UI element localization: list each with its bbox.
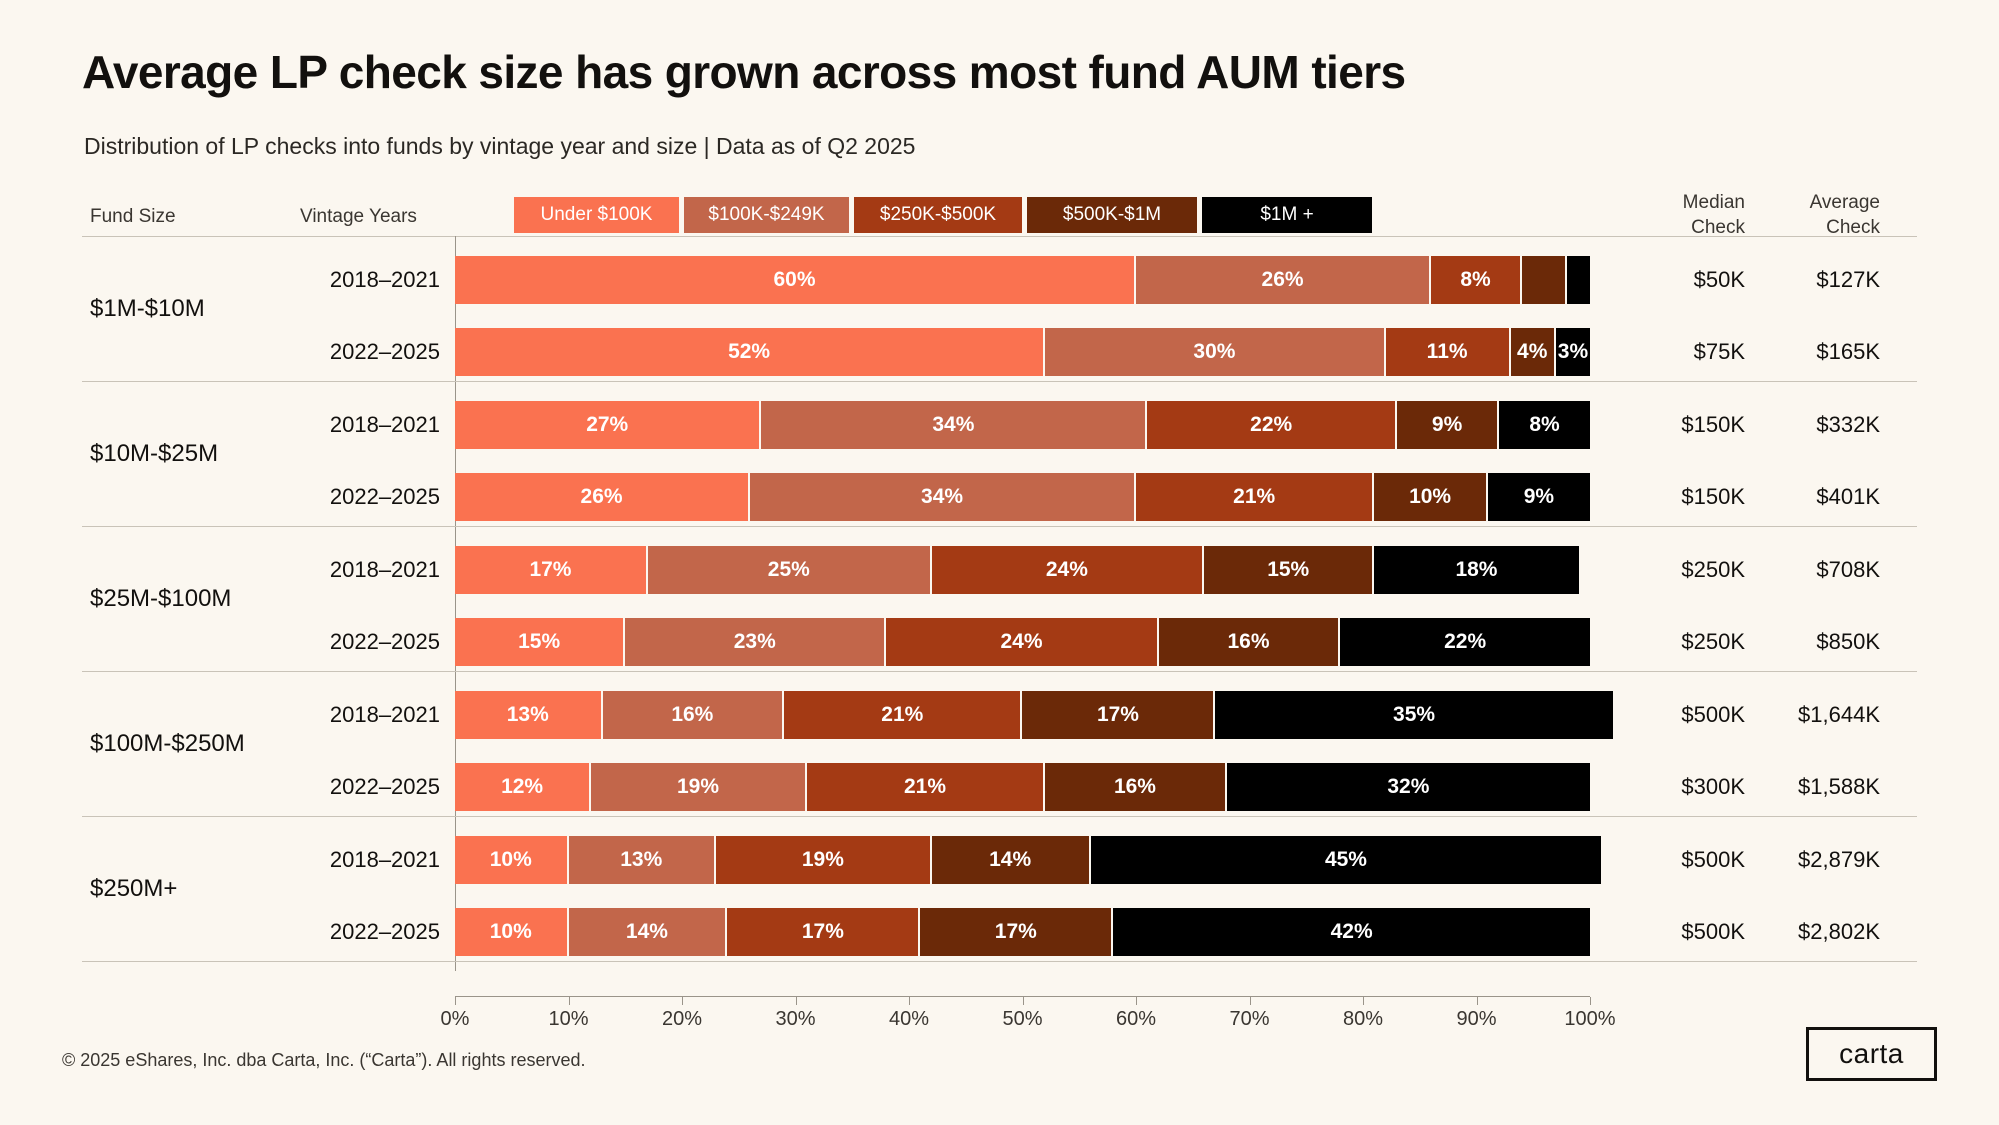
bar-segment[interactable]: 22%: [1147, 401, 1397, 449]
bar-segment-label: 15%: [1267, 558, 1309, 582]
vintage-years-label: 2022–2025: [190, 763, 440, 811]
bar-segment[interactable]: 19%: [591, 763, 807, 811]
median-check-value: $500K: [1625, 836, 1745, 884]
table-row: 2018–202127%34%22%9%8%$150K$332K: [0, 401, 1999, 449]
bar-segment[interactable]: [1522, 256, 1567, 304]
bar-segment-label: 34%: [932, 413, 974, 437]
legend-item-3[interactable]: $250K-$500K: [854, 197, 1022, 233]
column-header-vintage-years: Vintage Years: [300, 206, 417, 228]
chart-page: Average LP check size has grown across m…: [0, 0, 1999, 1125]
bar-segment[interactable]: 17%: [455, 546, 648, 594]
median-check-value: $250K: [1625, 546, 1745, 594]
bar-segment-label: 4%: [1517, 340, 1547, 364]
bar-segment[interactable]: 19%: [716, 836, 932, 884]
group-divider: [82, 816, 1917, 817]
bar-segment[interactable]: 24%: [886, 618, 1158, 666]
stacked-bar[interactable]: 60%26%8%: [455, 256, 1590, 304]
vintage-years-label: 2022–2025: [190, 473, 440, 521]
chart-legend: Under $100K$100K-$249K$250K-$500K$500K-$…: [514, 197, 1372, 233]
bar-segment[interactable]: 34%: [761, 401, 1147, 449]
table-row: 2018–202110%13%19%14%45%$500K$2,879K: [0, 836, 1999, 884]
bar-segment[interactable]: 34%: [750, 473, 1136, 521]
x-axis-tick-label: 10%: [548, 1008, 588, 1031]
bar-segment[interactable]: 17%: [727, 908, 920, 956]
bar-segment-label: 24%: [1000, 630, 1042, 654]
bar-segment-label: 17%: [995, 920, 1037, 944]
median-check-value: $250K: [1625, 618, 1745, 666]
bar-segment[interactable]: 24%: [932, 546, 1204, 594]
stacked-bar[interactable]: 15%23%24%16%22%: [455, 618, 1590, 666]
bar-segment[interactable]: 11%: [1386, 328, 1511, 376]
table-row: 2018–202160%26%8%$50K$127K: [0, 256, 1999, 304]
bar-segment[interactable]: 16%: [1045, 763, 1227, 811]
stacked-bar[interactable]: 10%14%17%17%42%: [455, 908, 1590, 956]
bar-segment-label: 21%: [904, 775, 946, 799]
average-check-value: $332K: [1760, 401, 1880, 449]
bar-segment[interactable]: 15%: [1204, 546, 1374, 594]
bar-segment-label: 35%: [1393, 703, 1435, 727]
bar-segment[interactable]: 25%: [648, 546, 932, 594]
bar-segment-label: 22%: [1250, 413, 1292, 437]
bar-segment-label: 32%: [1387, 775, 1429, 799]
x-axis-tick-label: 30%: [775, 1008, 815, 1031]
average-check-value: $165K: [1760, 328, 1880, 376]
vintage-years-label: 2018–2021: [190, 256, 440, 304]
bar-segment[interactable]: 27%: [455, 401, 761, 449]
x-axis-tick: [569, 997, 570, 1005]
average-check-value: $708K: [1760, 546, 1880, 594]
legend-item-1[interactable]: Under $100K: [514, 197, 679, 233]
bar-segment-label: 12%: [501, 775, 543, 799]
x-axis-tick: [1363, 997, 1364, 1005]
column-header-average-check: Average Check: [1760, 190, 1880, 240]
legend-item-label: $1M +: [1260, 204, 1313, 226]
page-subtitle: Distribution of LP checks into funds by …: [84, 133, 915, 160]
x-axis-tick: [1250, 997, 1251, 1005]
average-check-value: $2,802K: [1760, 908, 1880, 956]
table-row: 2018–202117%25%24%15%18%$250K$708K: [0, 546, 1999, 594]
stacked-bar[interactable]: 13%16%21%17%35%: [455, 691, 1613, 739]
x-axis-tick: [455, 997, 456, 1005]
bar-segment[interactable]: 35%: [1215, 691, 1612, 739]
table-row: 2022–202515%23%24%16%22%$250K$850K: [0, 618, 1999, 666]
vintage-years-label: 2022–2025: [190, 908, 440, 956]
bar-segment-label: 14%: [989, 848, 1031, 872]
average-check-line-1: Average: [1760, 190, 1880, 215]
bar-segment[interactable]: 9%: [1397, 401, 1499, 449]
x-axis-tick-label: 80%: [1343, 1008, 1383, 1031]
x-axis-tick: [1477, 997, 1478, 1005]
bar-segment-label: 26%: [581, 485, 623, 509]
vintage-years-label: 2018–2021: [190, 836, 440, 884]
bar-segment[interactable]: 21%: [807, 763, 1045, 811]
bar-segment[interactable]: 21%: [1136, 473, 1374, 521]
bar-segment[interactable]: 18%: [1374, 546, 1578, 594]
bar-segment-label: 19%: [802, 848, 844, 872]
x-axis-tick-label: 90%: [1456, 1008, 1496, 1031]
bar-segment-label: 24%: [1046, 558, 1088, 582]
stacked-bar[interactable]: 26%34%21%10%9%: [455, 473, 1590, 521]
bar-segment[interactable]: 23%: [625, 618, 886, 666]
bar-segment[interactable]: 22%: [1340, 618, 1590, 666]
x-axis-tick: [796, 997, 797, 1005]
bar-segment[interactable]: 12%: [455, 763, 591, 811]
table-row: 2022–202552%30%11%4%3%$75K$165K: [0, 328, 1999, 376]
vintage-years-label: 2018–2021: [190, 691, 440, 739]
vintage-years-label: 2022–2025: [190, 618, 440, 666]
bar-segment[interactable]: [1567, 256, 1590, 304]
average-check-value: $2,879K: [1760, 836, 1880, 884]
bar-segment-label: 17%: [1097, 703, 1139, 727]
bar-segment-label: 19%: [677, 775, 719, 799]
bar-segment[interactable]: 32%: [1227, 763, 1590, 811]
median-check-line-1: Median: [1625, 190, 1745, 215]
legend-item-label: $500K-$1M: [1063, 204, 1161, 226]
stacked-bar[interactable]: 12%19%21%16%32%: [455, 763, 1590, 811]
bar-segment-label: 10%: [490, 848, 532, 872]
vintage-years-label: 2018–2021: [190, 401, 440, 449]
bar-segment-label: 60%: [773, 268, 815, 292]
bar-segment[interactable]: 30%: [1045, 328, 1386, 376]
bar-segment-label: 10%: [490, 920, 532, 944]
median-check-value: $300K: [1625, 763, 1745, 811]
legend-item-label: $100K-$249K: [708, 204, 824, 226]
x-axis-tick: [1136, 997, 1137, 1005]
bar-segment-label: 34%: [921, 485, 963, 509]
x-axis-tick: [682, 997, 683, 1005]
average-check-value: $1,588K: [1760, 763, 1880, 811]
bar-segment[interactable]: 8%: [1431, 256, 1522, 304]
median-check-value: $500K: [1625, 908, 1745, 956]
bar-segment[interactable]: 16%: [1159, 618, 1341, 666]
bar-segment-label: 3%: [1558, 340, 1588, 364]
average-check-value: $1,644K: [1760, 691, 1880, 739]
x-axis-tick: [1023, 997, 1024, 1005]
x-axis-tick-label: 100%: [1564, 1008, 1615, 1031]
legend-item-label: Under $100K: [541, 204, 653, 226]
x-axis-tick: [1590, 997, 1591, 1005]
bar-segment[interactable]: 16%: [603, 691, 785, 739]
bar-segment-label: 27%: [586, 413, 628, 437]
bar-segment-label: 8%: [1529, 413, 1559, 437]
bar-segment[interactable]: 21%: [784, 691, 1022, 739]
bar-segment-label: 15%: [518, 630, 560, 654]
bar-segment[interactable]: 13%: [455, 691, 603, 739]
bar-segment-label: 9%: [1432, 413, 1462, 437]
x-axis-tick: [909, 997, 910, 1005]
stacked-bar[interactable]: 52%30%11%4%3%: [455, 328, 1590, 376]
bar-segment-label: 8%: [1460, 268, 1490, 292]
bar-segment-label: 16%: [1227, 630, 1269, 654]
copyright-text: © 2025 eShares, Inc. dba Carta, Inc. (“C…: [62, 1050, 586, 1071]
stacked-bar[interactable]: 17%25%24%15%18%: [455, 546, 1579, 594]
vintage-years-label: 2022–2025: [190, 328, 440, 376]
group-divider: [82, 961, 1917, 962]
bar-segment[interactable]: 60%: [455, 256, 1136, 304]
bar-segment[interactable]: 13%: [569, 836, 717, 884]
bar-segment-label: 21%: [1233, 485, 1275, 509]
bar-segment-label: 30%: [1193, 340, 1235, 364]
legend-item-5[interactable]: $1M +: [1202, 197, 1372, 233]
bar-segment-label: 42%: [1331, 920, 1373, 944]
x-axis-tick-label: 70%: [1229, 1008, 1269, 1031]
bar-segment-label: 21%: [881, 703, 923, 727]
bar-segment[interactable]: 10%: [1374, 473, 1488, 521]
bar-segment[interactable]: 17%: [1022, 691, 1215, 739]
bar-segment[interactable]: 10%: [455, 836, 569, 884]
average-check-value: $850K: [1760, 618, 1880, 666]
bar-segment[interactable]: 42%: [1113, 908, 1590, 956]
bar-segment-label: 9%: [1524, 485, 1554, 509]
x-axis-tick-label: 40%: [889, 1008, 929, 1031]
x-axis-tick-label: 60%: [1116, 1008, 1156, 1031]
column-header-median-check: Median Check: [1625, 190, 1745, 240]
header-divider: [82, 236, 1917, 237]
bar-segment[interactable]: 15%: [455, 618, 625, 666]
median-check-value: $150K: [1625, 473, 1745, 521]
bar-segment[interactable]: 9%: [1488, 473, 1590, 521]
table-row: 2018–202113%16%21%17%35%$500K$1,644K: [0, 691, 1999, 739]
bar-segment-label: 16%: [1114, 775, 1156, 799]
bar-segment[interactable]: 10%: [455, 908, 569, 956]
table-row: 2022–202512%19%21%16%32%$300K$1,588K: [0, 763, 1999, 811]
bar-segment-label: 25%: [768, 558, 810, 582]
bar-segment-label: 17%: [802, 920, 844, 944]
average-check-value: $401K: [1760, 473, 1880, 521]
bar-segment-label: 52%: [728, 340, 770, 364]
column-header-fund-size: Fund Size: [90, 206, 176, 228]
group-divider: [82, 381, 1917, 382]
bar-segment-label: 16%: [671, 703, 713, 727]
bar-segment-label: 45%: [1325, 848, 1367, 872]
bar-segment-label: 11%: [1427, 340, 1468, 364]
bar-segment-label: 22%: [1444, 630, 1486, 654]
x-axis-tick-label: 0%: [441, 1008, 470, 1031]
legend-item-label: $250K-$500K: [880, 204, 996, 226]
bar-segment[interactable]: 26%: [1136, 256, 1431, 304]
table-row: 2022–202526%34%21%10%9%$150K$401K: [0, 473, 1999, 521]
bar-segment[interactable]: 3%: [1556, 328, 1590, 376]
bar-segment[interactable]: 14%: [932, 836, 1091, 884]
group-divider: [82, 671, 1917, 672]
median-check-value: $50K: [1625, 256, 1745, 304]
bar-segment[interactable]: 14%: [569, 908, 728, 956]
carta-logo: carta: [1806, 1027, 1937, 1081]
median-check-value: $500K: [1625, 691, 1745, 739]
bar-segment[interactable]: 26%: [455, 473, 750, 521]
stacked-bar[interactable]: 10%13%19%14%45%: [455, 836, 1601, 884]
average-check-value: $127K: [1760, 256, 1880, 304]
bar-segment-label: 14%: [626, 920, 668, 944]
bar-segment[interactable]: 52%: [455, 328, 1045, 376]
x-axis-tick-label: 50%: [1002, 1008, 1042, 1031]
bar-segment-label: 17%: [529, 558, 571, 582]
vintage-years-label: 2018–2021: [190, 546, 440, 594]
bar-segment-label: 10%: [1409, 485, 1451, 509]
page-title: Average LP check size has grown across m…: [82, 45, 1405, 99]
bar-segment-label: 26%: [1262, 268, 1304, 292]
group-divider: [82, 526, 1917, 527]
bar-segment-label: 23%: [734, 630, 776, 654]
median-check-value: $75K: [1625, 328, 1745, 376]
bar-segment[interactable]: 8%: [1499, 401, 1590, 449]
bar-segment-label: 18%: [1455, 558, 1497, 582]
x-axis-tick-label: 20%: [662, 1008, 702, 1031]
stacked-bar[interactable]: 27%34%22%9%8%: [455, 401, 1590, 449]
median-check-value: $150K: [1625, 401, 1745, 449]
bar-segment-label: 13%: [507, 703, 549, 727]
bar-segment-label: 13%: [620, 848, 662, 872]
legend-item-4[interactable]: $500K-$1M: [1027, 197, 1197, 233]
bar-segment[interactable]: 45%: [1091, 836, 1602, 884]
bar-segment[interactable]: 4%: [1511, 328, 1556, 376]
bar-segment[interactable]: 17%: [920, 908, 1113, 956]
legend-item-2[interactable]: $100K-$249K: [684, 197, 849, 233]
table-row: 2022–202510%14%17%17%42%$500K$2,802K: [0, 908, 1999, 956]
